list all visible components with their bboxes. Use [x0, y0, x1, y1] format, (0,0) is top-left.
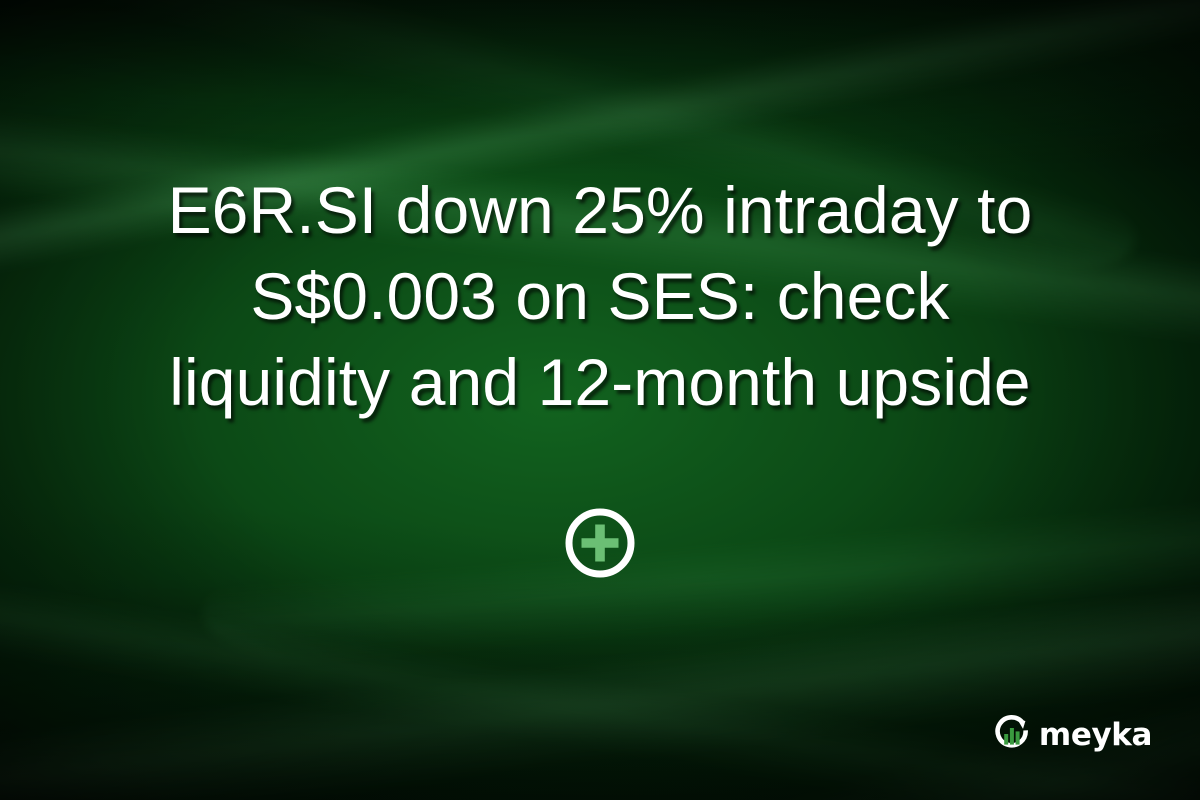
plus-circle-icon[interactable] — [564, 507, 636, 579]
meyka-mark-icon — [992, 713, 1032, 758]
brand-name-label: meyka — [1039, 720, 1152, 751]
light-streak — [193, 379, 1200, 730]
headline-text: E6R.SI down 25% intraday to S$0.003 on S… — [50, 168, 1150, 425]
brand-logo: meyka — [992, 713, 1152, 758]
news-card: E6R.SI down 25% intraday to S$0.003 on S… — [0, 0, 1200, 800]
